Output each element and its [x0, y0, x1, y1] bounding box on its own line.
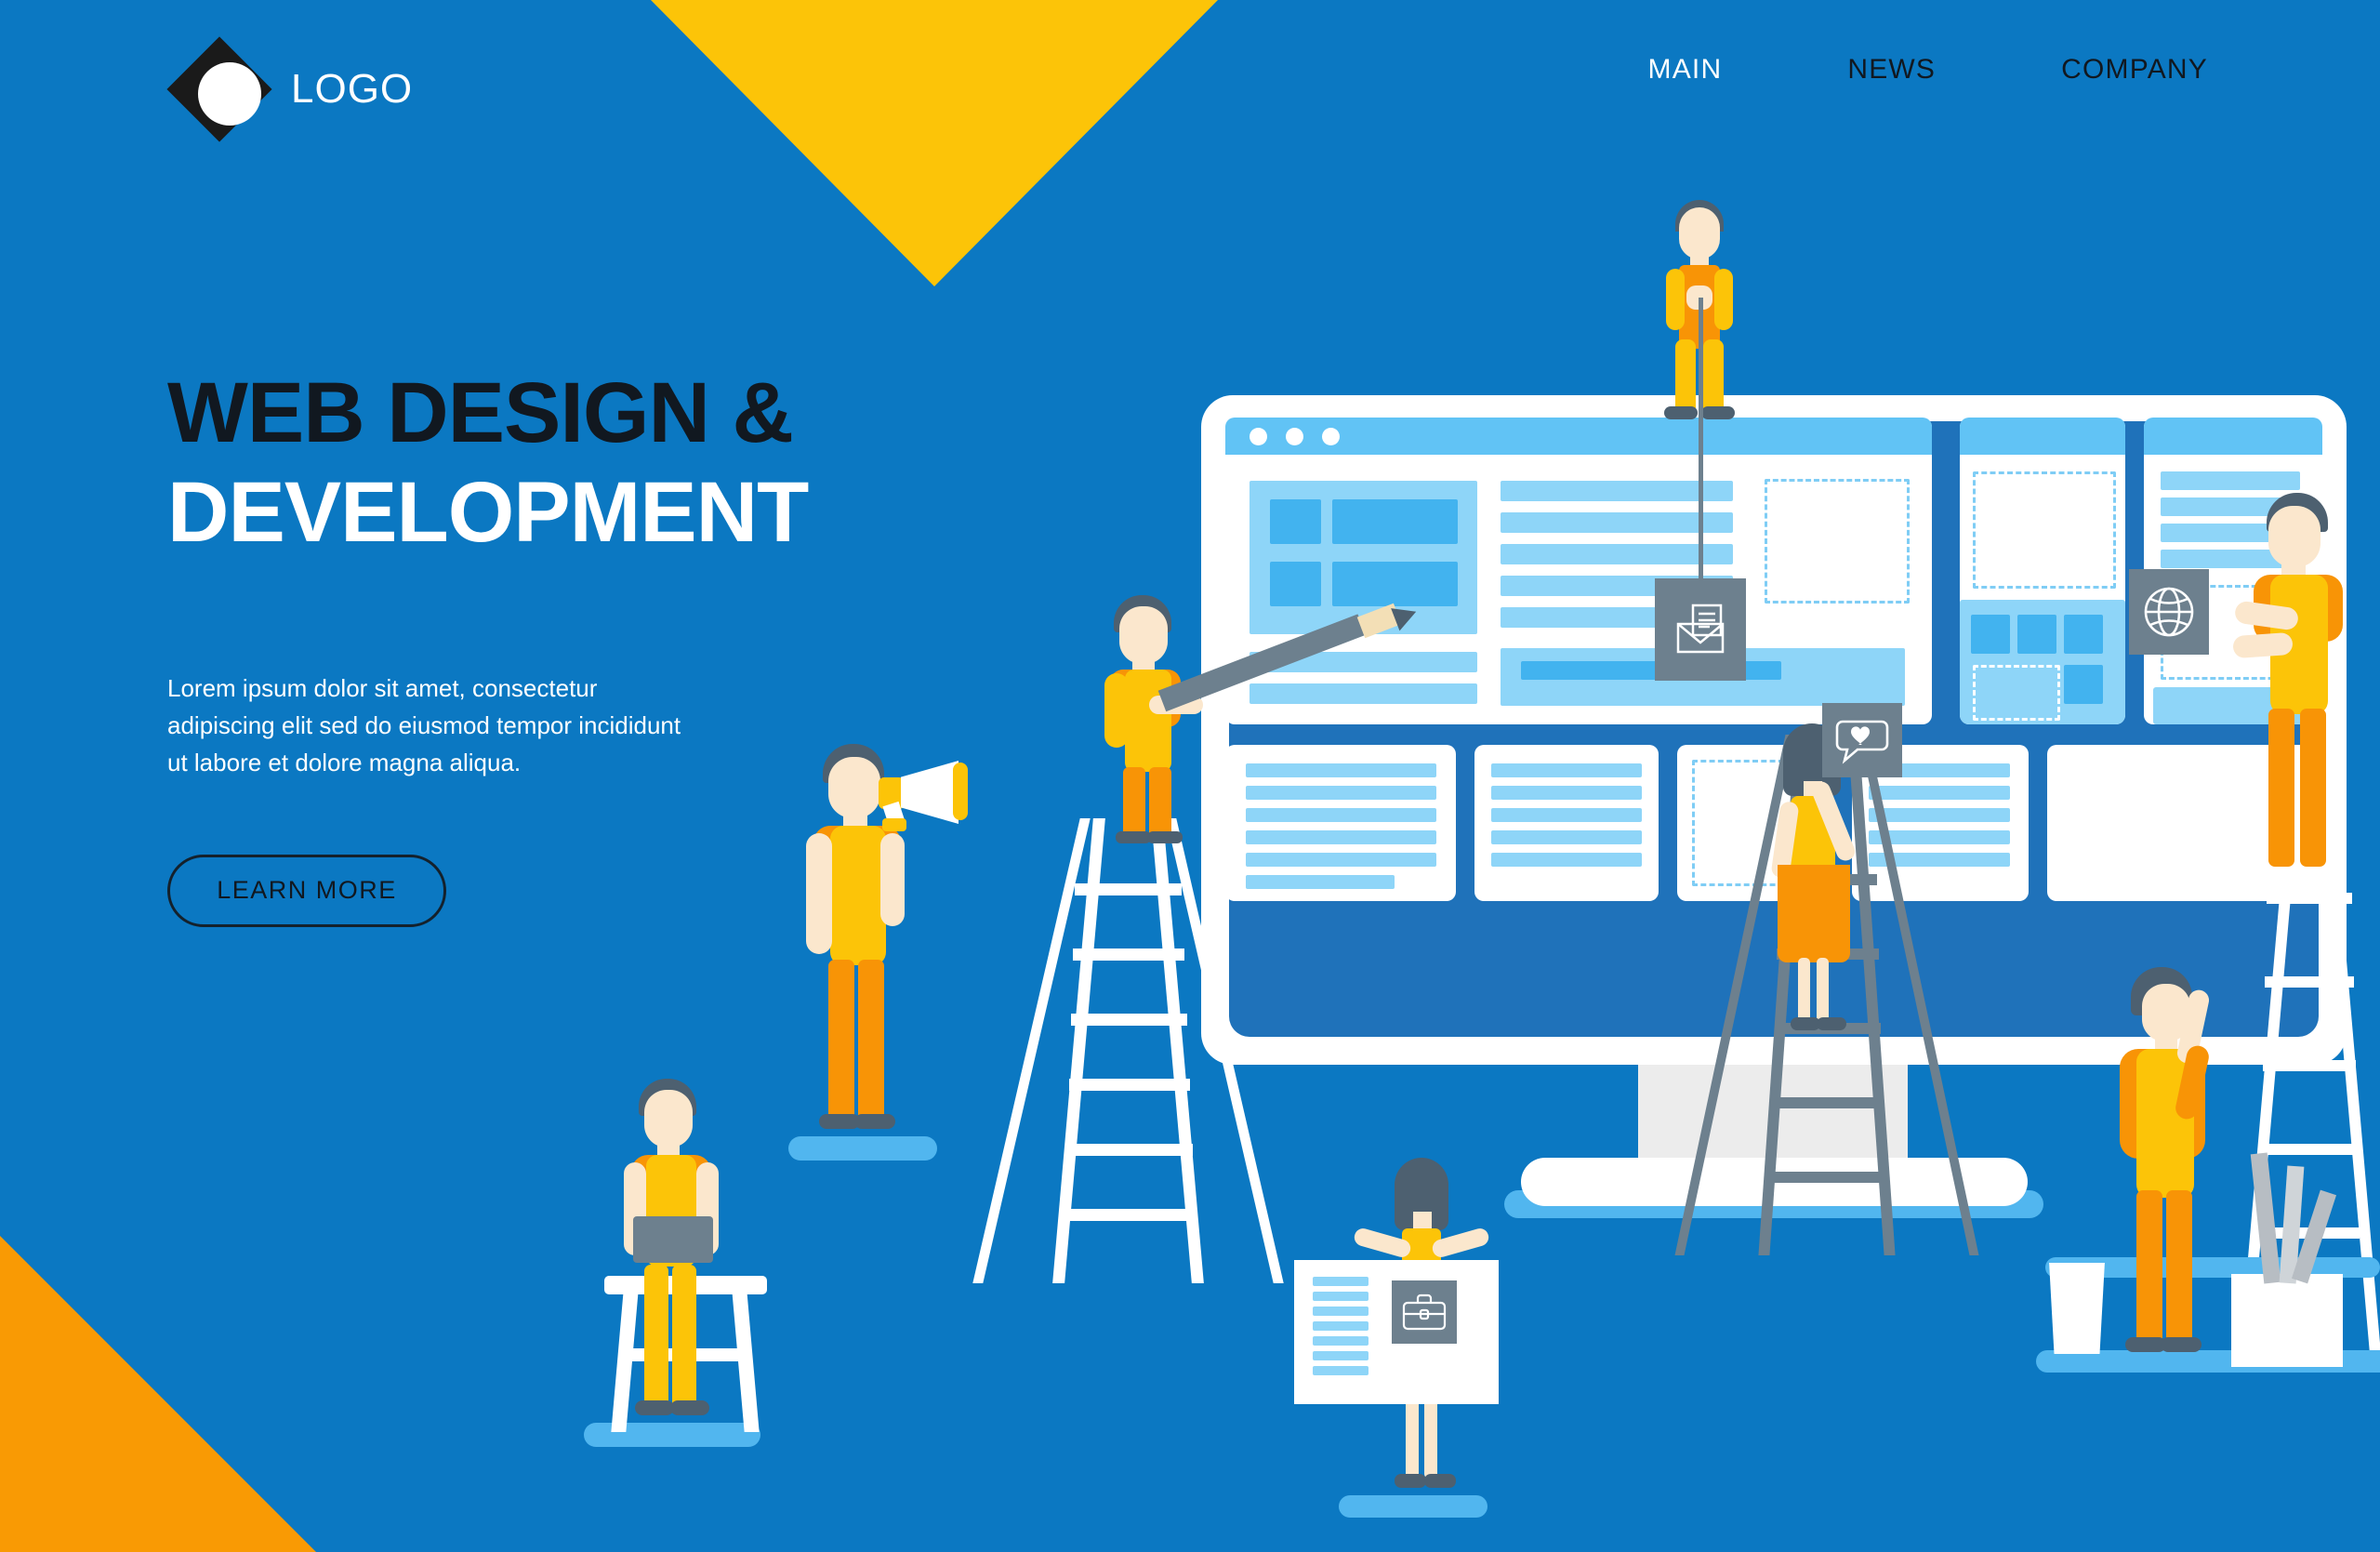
window-dot-icon	[1286, 428, 1303, 445]
browser-titlebar	[1225, 418, 1932, 455]
tool-rulers	[2231, 1144, 2352, 1283]
page-title-line-2: DEVELOPMENT	[167, 467, 1004, 559]
tool-box	[2231, 1274, 2343, 1367]
window-dot-icon	[1249, 428, 1267, 445]
character-holding-ladder	[2103, 967, 2252, 1367]
globe-tile	[2129, 569, 2209, 655]
window-dot-icon	[1322, 428, 1340, 445]
diamond-circle-logo-icon	[172, 42, 267, 137]
illustration-stage: LOGO MAIN NEWS COMPANY WEB DESIGN & DEVE…	[0, 0, 2380, 1552]
logo-text: LOGO	[291, 66, 413, 113]
panel-side-card	[1960, 418, 2125, 724]
giant-pencil-icon	[1162, 614, 1432, 735]
character-with-laptop	[618, 1079, 767, 1432]
nav-item-news[interactable]: NEWS	[1847, 54, 1936, 86]
megaphone-icon	[879, 761, 981, 826]
hanging-cable	[1699, 298, 1703, 581]
nav-item-main[interactable]: MAIN	[1648, 54, 1723, 86]
briefcase-icon	[1400, 1292, 1448, 1333]
globe-icon	[2140, 583, 2198, 641]
yellow-triangle-decoration	[651, 0, 1218, 286]
learn-more-button[interactable]: LEARN MORE	[167, 855, 446, 927]
orange-triangle-decoration	[0, 1236, 316, 1552]
hero-paragraph: Lorem ipsum dolor sit amet, consectetur …	[167, 670, 688, 782]
main-navigation: MAIN NEWS COMPANY	[1648, 54, 2208, 86]
stepladder-left	[1013, 818, 1255, 1283]
panel-bottom-center	[1474, 745, 1659, 901]
page-title-line-1: WEB DESIGN &	[167, 367, 1004, 459]
nav-item-company[interactable]: COMPANY	[2061, 54, 2208, 86]
laptop-icon	[633, 1216, 713, 1263]
heart-chat-bubble-icon	[1833, 714, 1891, 766]
briefcase-tile	[1392, 1280, 1457, 1344]
presentation-board	[1294, 1260, 1499, 1404]
mail-tile	[1655, 578, 1746, 681]
logo[interactable]: LOGO	[172, 42, 413, 137]
paint-bucket	[2045, 1263, 2109, 1354]
envelope-icon	[1671, 604, 1730, 656]
like-tile	[1822, 703, 1902, 777]
panel-bottom-left	[1225, 745, 1456, 901]
character-with-globe	[2231, 493, 2380, 883]
character-with-megaphone	[795, 744, 962, 1144]
